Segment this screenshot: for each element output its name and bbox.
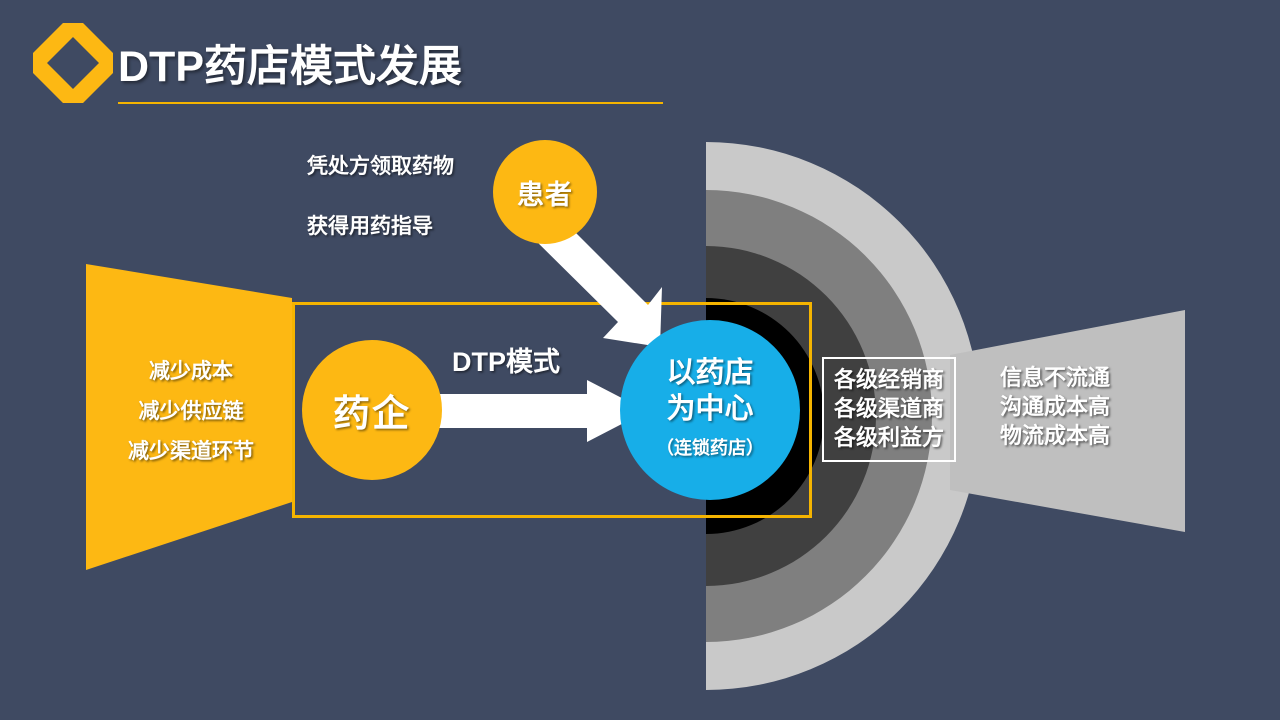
dealers-line-1: 各级经销商 <box>834 365 944 394</box>
title-underline <box>118 102 663 104</box>
problem-line-3: 物流成本高 <box>1000 421 1110 450</box>
node-store-sublabel: （连锁药店） <box>656 430 764 466</box>
node-patient-label: 患者 <box>517 173 573 212</box>
note-guidance: 获得用药指导 <box>307 210 433 240</box>
dealers-layers-box: 各级经销商 各级渠道商 各级利益方 <box>822 357 956 462</box>
node-patient[interactable]: 患者 <box>493 140 597 244</box>
problem-line-2: 沟通成本高 <box>1000 392 1110 421</box>
benefit-line-2: 减少供应链 <box>96 392 286 432</box>
node-store-line1: 以药店 <box>666 355 753 391</box>
node-pharma-label: 药企 <box>333 383 411 437</box>
benefit-line-3: 减少渠道环节 <box>96 432 286 472</box>
right-arrow-icon <box>437 380 647 442</box>
cost-reduction-benefits: 减少成本 减少供应链 减少渠道环节 <box>96 352 286 472</box>
diamond-icon <box>33 23 113 103</box>
problem-line-1: 信息不流通 <box>1000 363 1110 392</box>
problems-list: 信息不流通 沟通成本高 物流成本高 <box>1000 363 1110 450</box>
node-pharma-company[interactable]: 药企 <box>302 340 442 480</box>
node-store-line2: 为中心 <box>666 391 753 427</box>
dealers-line-2: 各级渠道商 <box>834 394 944 423</box>
dealers-line-3: 各级利益方 <box>834 423 944 452</box>
slide-canvas: 减少成本 减少供应链 减少渠道环节 DTP药店模式发展 凭处方领取药物 获得用药… <box>0 0 1280 720</box>
note-prescription: 凭处方领取药物 <box>307 150 454 180</box>
node-pharmacy-center[interactable]: 以药店 为中心 （连锁药店） <box>620 320 800 500</box>
dtp-model-label: DTP模式 <box>452 340 560 379</box>
page-title: DTP药店模式发展 <box>118 32 462 94</box>
benefit-line-1: 减少成本 <box>96 352 286 392</box>
